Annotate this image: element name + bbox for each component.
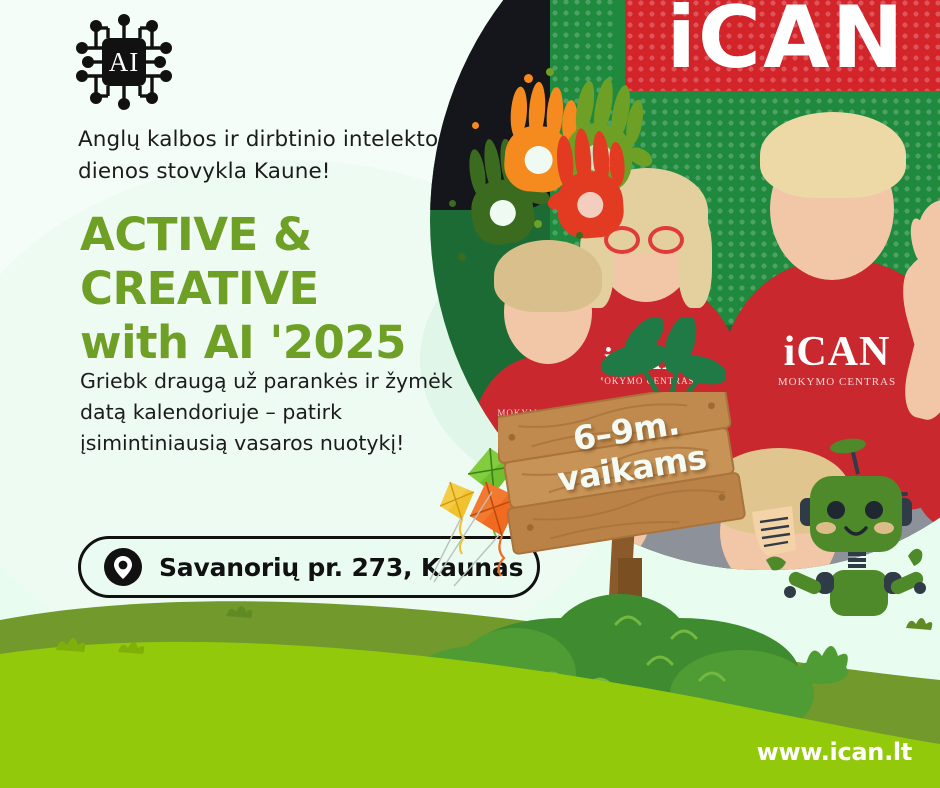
- headline-line-1: ACTIVE & CREATIVE: [80, 208, 319, 315]
- kite-yellow: [440, 482, 474, 554]
- lego-wall-text: iCAN: [630, 0, 940, 88]
- svg-text:AI: AI: [109, 47, 140, 77]
- document-paper-icon: [752, 506, 796, 556]
- ai-chip-icon: AI: [74, 14, 174, 110]
- paint-speck: [524, 74, 533, 83]
- website-url[interactable]: www.ican.lt: [757, 738, 912, 766]
- headline-line-2: with AI '2025: [80, 316, 550, 370]
- subheading: Anglų kalbos ir dirbtinio intelekto dien…: [78, 124, 478, 188]
- peace-sign-hand: [906, 256, 940, 322]
- poster-canvas: iCAN iCAN MOKYMO CENTRAS: [0, 0, 940, 788]
- paint-speck: [449, 200, 456, 207]
- small-shrub: [796, 646, 848, 684]
- body-copy: Griebk draugą už parankės ir žymėk datą …: [80, 366, 480, 459]
- handprint-red: [536, 125, 642, 250]
- shirt-logo-text: iCAN: [712, 328, 940, 376]
- paint-speck: [546, 68, 554, 76]
- paint-speck: [576, 232, 583, 239]
- shirt-logo-text: iCAN: [908, 366, 940, 404]
- page-title: ACTIVE & CREATIVE with AI '2025: [80, 208, 550, 370]
- shirt-logo-subtext: MOKYMO CENTRAS: [908, 406, 940, 416]
